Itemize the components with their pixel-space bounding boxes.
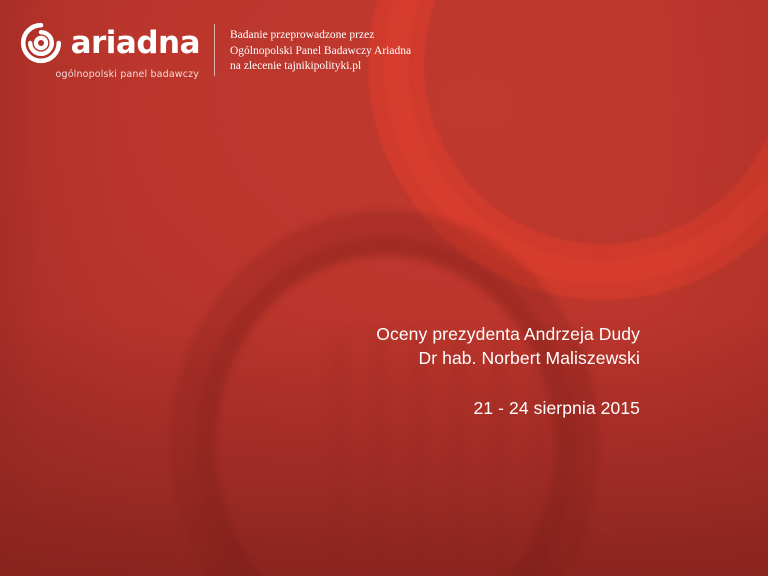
slide-date: 21 - 24 sierpnia 2015 <box>140 396 640 420</box>
ariadna-tagline: ogólnopolski panel badawczy <box>56 69 199 80</box>
credit-line-2: Ogólnopolski Panel Badawczy Ariadna <box>230 44 411 60</box>
presentation-slide: ariadna ogólnopolski panel badawczy Bada… <box>0 0 768 576</box>
slide-background-vignette-horizontal <box>0 0 768 576</box>
study-credit: Badanie przeprowadzone przez Ogólnopolsk… <box>230 22 411 75</box>
slide-title: Oceny prezydenta Andrzeja Dudy <box>140 322 640 346</box>
slide-title-block: Oceny prezydenta Andrzeja Dudy Dr hab. N… <box>140 322 640 420</box>
ariadna-wordmark: ariadna <box>71 28 200 59</box>
slide-subtitle: Dr hab. Norbert Maliszewski <box>140 346 640 370</box>
credit-line-3: na zlecenie tajnikipolityki.pl <box>230 59 411 75</box>
ariadna-spiral-logo-icon <box>20 22 62 64</box>
logo-row: ariadna <box>20 22 200 64</box>
ariadna-logo: ariadna ogólnopolski panel badawczy <box>30 22 200 80</box>
credit-line-1: Badanie przeprowadzone przez <box>230 28 411 44</box>
slide-header: ariadna ogólnopolski panel badawczy Bada… <box>30 22 411 80</box>
header-divider <box>214 24 215 76</box>
